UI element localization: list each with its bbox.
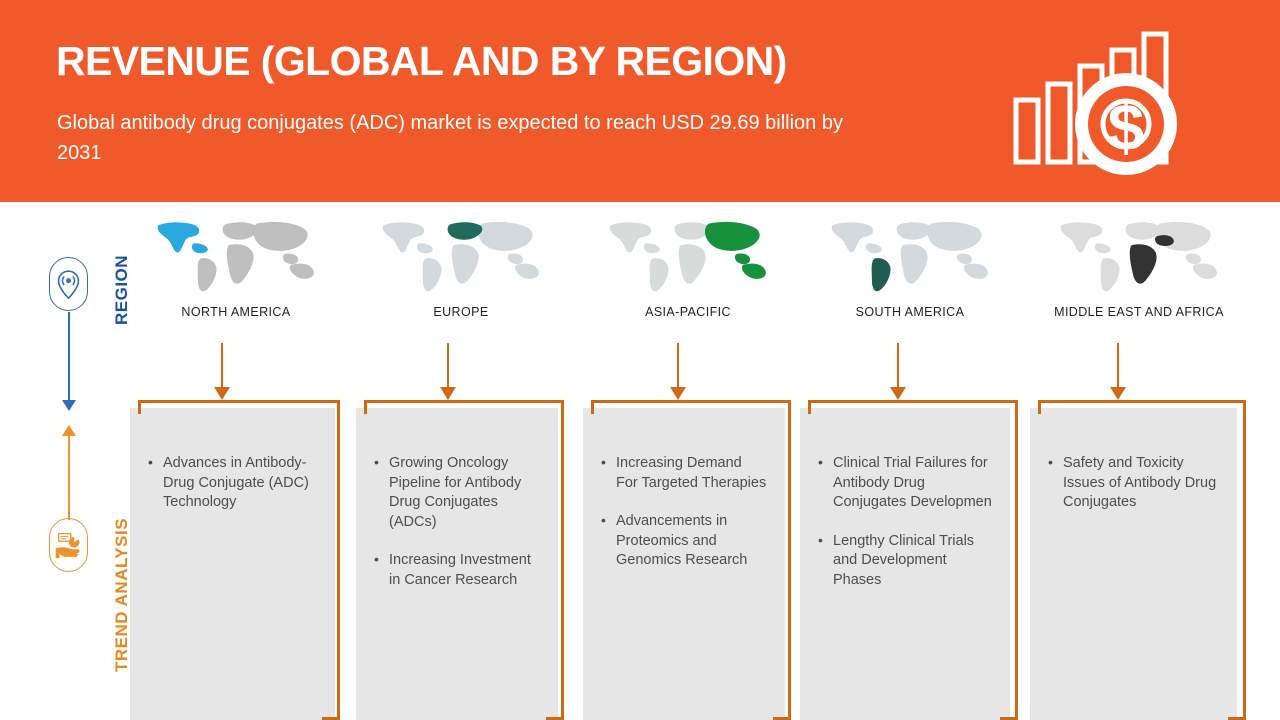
trend-bullet-list: Increasing Demand For Targeted Therapies… — [599, 454, 767, 590]
region-flow-arrow-down-icon — [62, 312, 76, 411]
arrow-down-icon — [1110, 343, 1126, 400]
trend-bullet-list: Advances in Antibody-Drug Conjugate (ADC… — [146, 454, 316, 532]
trend-bullet-item: Advancements in Proteomics and Genomics … — [599, 512, 767, 571]
trend-bullet-item: Increasing Investment in Cancer Research — [372, 551, 540, 590]
world-map-asia-pacific-icon — [583, 218, 793, 298]
trend-bullet-item: Clinical Trial Failures for Antibody Dru… — [816, 454, 994, 513]
region-name-label: NORTH AMERICA — [130, 305, 342, 319]
bracket-decoration — [1038, 400, 1246, 720]
trend-bullet-item: Safety and Toxicity Issues of Antibody D… — [1046, 454, 1222, 513]
world-map-europe-icon — [356, 218, 566, 298]
header-banner: REVENUE (GLOBAL AND BY REGION) Global an… — [0, 0, 1280, 202]
region-axis-label: REGION — [112, 255, 132, 325]
page-subtitle: Global antibody drug conjugates (ADC) ma… — [57, 108, 857, 168]
trend-bullet-item: Growing Oncology Pipeline for Antibody D… — [372, 454, 540, 532]
arrow-down-icon — [670, 343, 686, 400]
location-pin-icon — [49, 257, 88, 311]
bracket-decoration — [138, 400, 340, 720]
trend-bullet-list: Growing Oncology Pipeline for Antibody D… — [372, 454, 540, 609]
arrow-down-icon — [890, 343, 906, 400]
arrow-down-icon — [440, 343, 456, 400]
trend-bullet-list: Clinical Trial Failures for Antibody Dru… — [816, 454, 994, 609]
region-name-label: EUROPE — [356, 305, 566, 319]
world-map-north-america-icon — [130, 218, 342, 298]
arrow-down-icon — [214, 343, 230, 400]
region-column: ASIA-PACIFICIncreasing Demand For Target… — [583, 212, 793, 720]
world-map-south-america-icon — [800, 218, 1020, 298]
trend-analysis-axis-label: TREND ANALYSIS — [112, 518, 132, 672]
world-map-middle-east-africa-icon — [1030, 218, 1248, 298]
trend-flow-arrow-up-icon — [62, 425, 76, 520]
trend-bullet-list: Safety and Toxicity Issues of Antibody D… — [1046, 454, 1222, 532]
revenue-bar-chart-dollar-icon: $ — [1000, 14, 1240, 194]
trend-bullet-item: Increasing Demand For Targeted Therapies — [599, 454, 767, 493]
region-column: SOUTH AMERICAClinical Trial Failures for… — [800, 212, 1020, 720]
region-name-label: ASIA-PACIFIC — [583, 305, 793, 319]
region-name-label: SOUTH AMERICA — [800, 305, 1020, 319]
region-column: NORTH AMERICAAdvances in Antibody-Drug C… — [130, 212, 342, 720]
region-column: EUROPEGrowing Oncology Pipeline for Anti… — [356, 212, 566, 720]
hand-holding-chart-icon — [49, 518, 88, 572]
region-column: MIDDLE EAST AND AFRICASafety and Toxicit… — [1030, 212, 1248, 720]
page-title: REVENUE (GLOBAL AND BY REGION) — [56, 38, 787, 85]
trend-bullet-item: Advances in Antibody-Drug Conjugate (ADC… — [146, 454, 316, 513]
region-name-label: MIDDLE EAST AND AFRICA — [1030, 305, 1248, 319]
trend-bullet-item: Lengthy Clinical Trials and Development … — [816, 532, 994, 591]
